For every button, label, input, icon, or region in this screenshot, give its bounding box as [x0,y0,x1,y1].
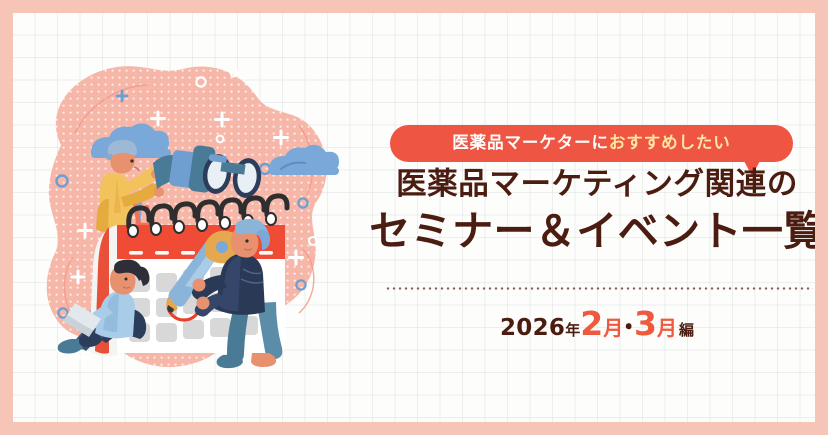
title-line-2: セミナー＆イベント一覧 [365,211,815,252]
badge-label: 医薬品マーケターにおすすめしたい [452,135,730,152]
badge-label-plain: 医薬品マーケターに [452,133,609,152]
seminar-event-banner: 医薬品マーケターにおすすめしたい 医薬品マーケティング関連の セミナー＆イベント… [0,0,828,435]
grid-paper-background: 医薬品マーケターにおすすめしたい 医薬品マーケティング関連の セミナー＆イベント… [13,13,815,422]
badge-label-highlight: おすすめしたい [609,133,731,152]
recommendation-badge: 医薬品マーケターにおすすめしたい [390,125,793,162]
date-month-second-suffix: 月 [657,316,677,340]
date-month-second: 3 [634,304,657,343]
page-title: 医薬品マーケティング関連の セミナー＆イベント一覧 [365,170,815,252]
dotted-divider [385,287,813,290]
date-month-first: 2 [580,304,603,343]
illustration [13,13,343,422]
date-month-first-suffix: 月 [603,316,623,340]
text-content: 医薬品マーケターにおすすめしたい 医薬品マーケティング関連の セミナー＆イベント… [365,13,815,422]
date-edition-suffix: 編 [677,321,694,339]
date-year-suffix: 年 [565,321,580,339]
date-range: 2026年2月・3月編 [365,307,815,340]
date-separator: ・ [623,313,634,337]
title-line-1: 医薬品マーケティング関連の [365,170,815,201]
date-year: 2026 [500,315,565,341]
